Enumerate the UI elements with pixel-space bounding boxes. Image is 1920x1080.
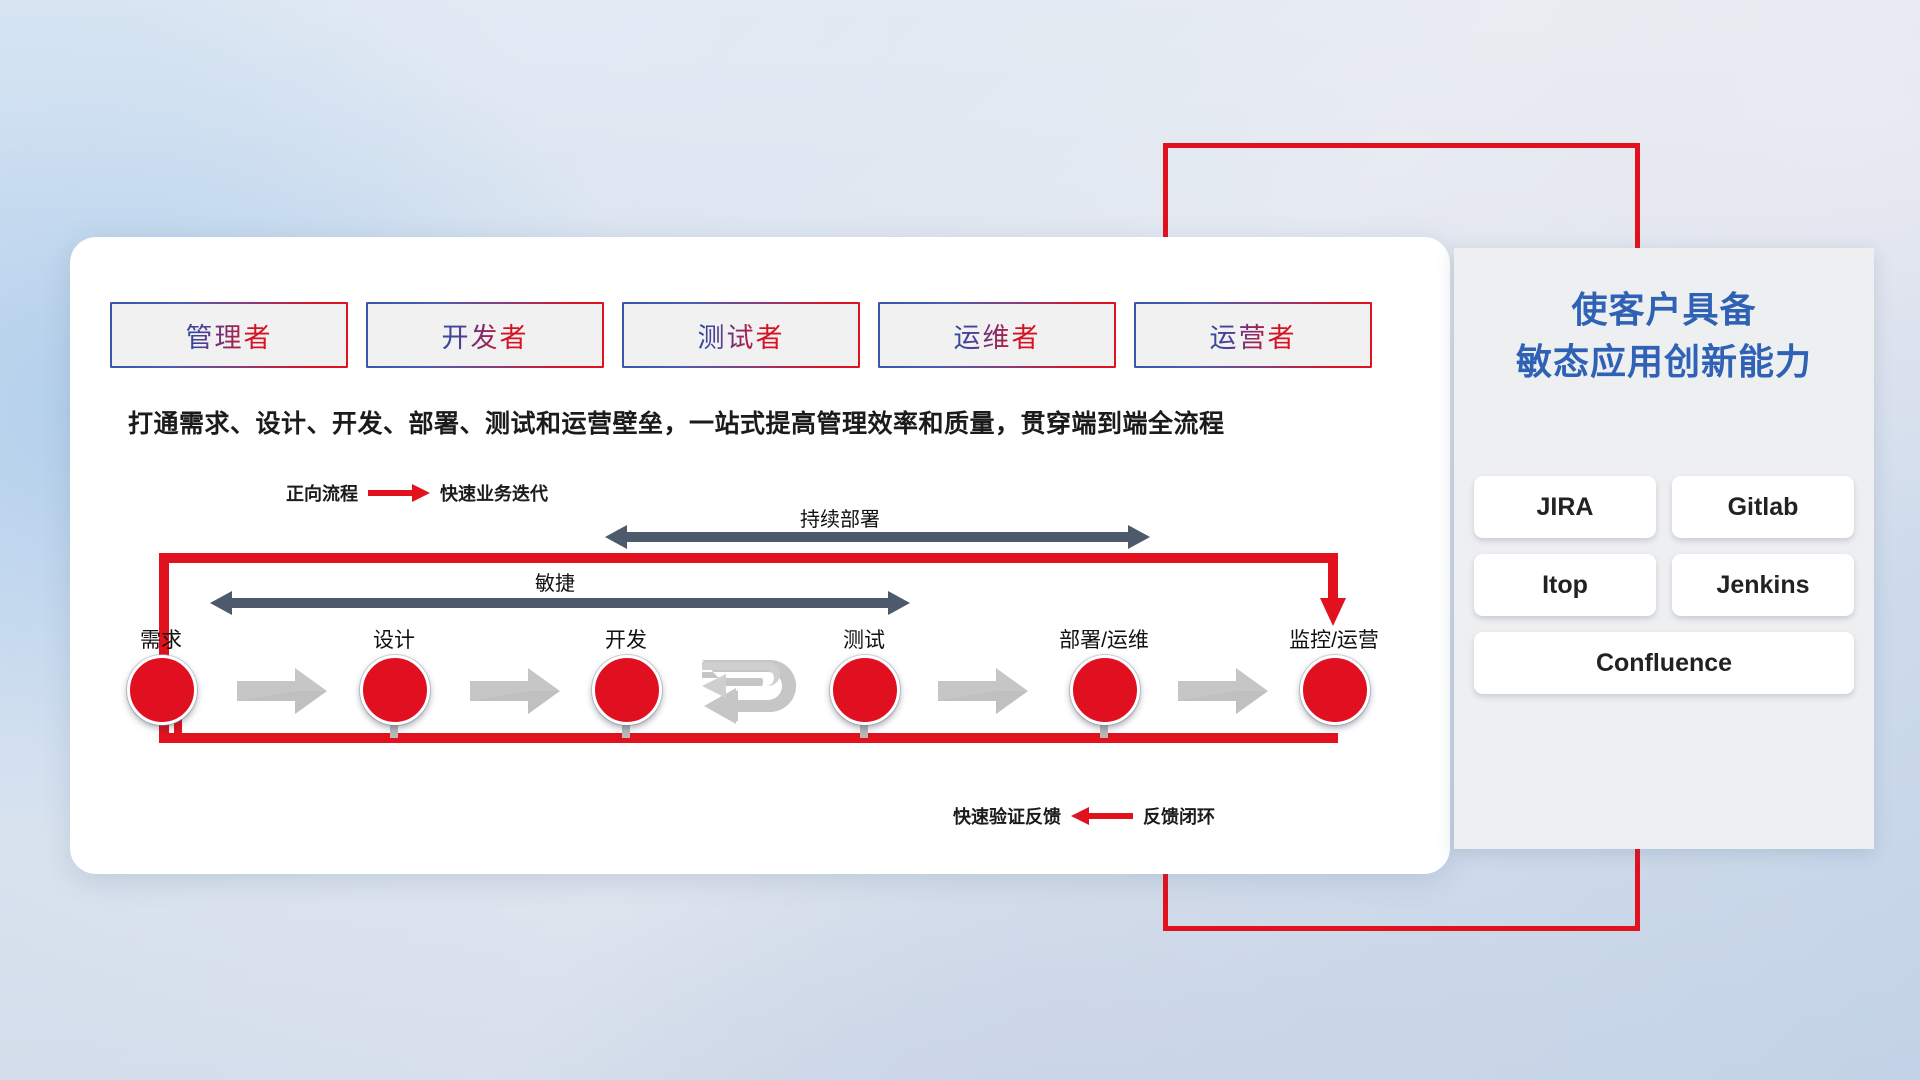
stage-label-deploy-ops: 部署/运维 <box>1059 624 1149 654</box>
description-text: 打通需求、设计、开发、部署、测试和运营壁垒，一站式提高管理效率和质量，贯穿端到端… <box>128 404 1225 440</box>
panel-title-line-1: 使客户具备 <box>1454 284 1874 336</box>
role-box-manager[interactable]: 管理者 <box>110 302 348 368</box>
legend-forward-to-label: 快速业务迭代 <box>440 480 548 506</box>
flow-arrow-testing-to-deploy <box>938 668 1028 714</box>
stage-node-monitor-operate[interactable] <box>1300 655 1370 725</box>
tool-button-jira[interactable]: JIRA <box>1474 476 1656 538</box>
stage-node-requirements[interactable] <box>127 655 197 725</box>
stage-label-testing: 测试 <box>843 624 885 654</box>
stage-label-requirements: 需求 <box>140 624 182 654</box>
legend-forward-from-label: 正向流程 <box>286 480 358 506</box>
role-box-tester[interactable]: 测试者 <box>622 302 860 368</box>
stage-node-deploy-ops[interactable] <box>1070 655 1140 725</box>
flow-arrow-requirements-to-design <box>237 668 327 714</box>
tool-button-label: JIRA <box>1537 493 1594 522</box>
tool-button-label: Itop <box>1542 571 1588 600</box>
role-box-row: 管理者 开发者 测试者 运维者 运营者 <box>110 302 1372 368</box>
legend-forward-flow: 正向流程 快速业务迭代 <box>286 480 548 506</box>
role-box-label: 管理者 <box>186 316 273 355</box>
tool-button-label: Gitlab <box>1728 493 1799 522</box>
red-arrow-left-icon <box>1071 807 1133 825</box>
role-box-operations-engineer[interactable]: 运维者 <box>878 302 1116 368</box>
stage-label-monitor-operate: 监控/运营 <box>1289 624 1379 654</box>
stage-label-development: 开发 <box>605 624 647 654</box>
panel-title-line-2: 敏态应用创新能力 <box>1454 336 1874 388</box>
tool-button-jenkins[interactable]: Jenkins <box>1672 554 1854 616</box>
role-box-developer[interactable]: 开发者 <box>366 302 604 368</box>
role-box-label: 运营者 <box>1210 316 1297 355</box>
role-box-label: 测试者 <box>698 316 785 355</box>
tool-button-itop[interactable]: Itop <box>1474 554 1656 616</box>
tool-button-grid: JIRA Gitlab Itop Jenkins Confluence <box>1474 476 1854 694</box>
legend-feedback-to-label: 快速验证反馈 <box>953 803 1061 829</box>
legend-feedback-loop: 快速验证反馈 反馈闭环 <box>953 803 1215 829</box>
stage-label-design: 设计 <box>373 624 415 654</box>
tool-button-confluence[interactable]: Confluence <box>1474 632 1854 694</box>
tool-button-label: Jenkins <box>1716 571 1809 600</box>
red-arrow-right-icon <box>368 484 430 502</box>
flow-cycle-arrow-development-testing <box>696 652 806 732</box>
stage-node-development[interactable] <box>592 655 662 725</box>
role-box-label: 开发者 <box>442 316 529 355</box>
benefits-panel: 使客户具备 敏态应用创新能力 JIRA Gitlab Itop Jenkins … <box>1454 248 1874 849</box>
tool-button-gitlab[interactable]: Gitlab <box>1672 476 1854 538</box>
legend-feedback-from-label: 反馈闭环 <box>1143 803 1215 829</box>
tool-button-label: Confluence <box>1596 649 1732 678</box>
panel-title: 使客户具备 敏态应用创新能力 <box>1454 284 1874 388</box>
flow-arrow-deploy-to-monitor <box>1178 668 1268 714</box>
stage-node-design[interactable] <box>360 655 430 725</box>
slide-canvas: 管理者 开发者 测试者 运维者 运营者 打通需求、设计、开发、部署、测试和运营壁… <box>0 0 1920 1080</box>
stage-node-testing[interactable] <box>830 655 900 725</box>
role-box-operator[interactable]: 运营者 <box>1134 302 1372 368</box>
role-box-label: 运维者 <box>954 316 1041 355</box>
flow-arrow-design-to-development <box>470 668 560 714</box>
continuous-deployment-span-arrow <box>605 524 1150 550</box>
